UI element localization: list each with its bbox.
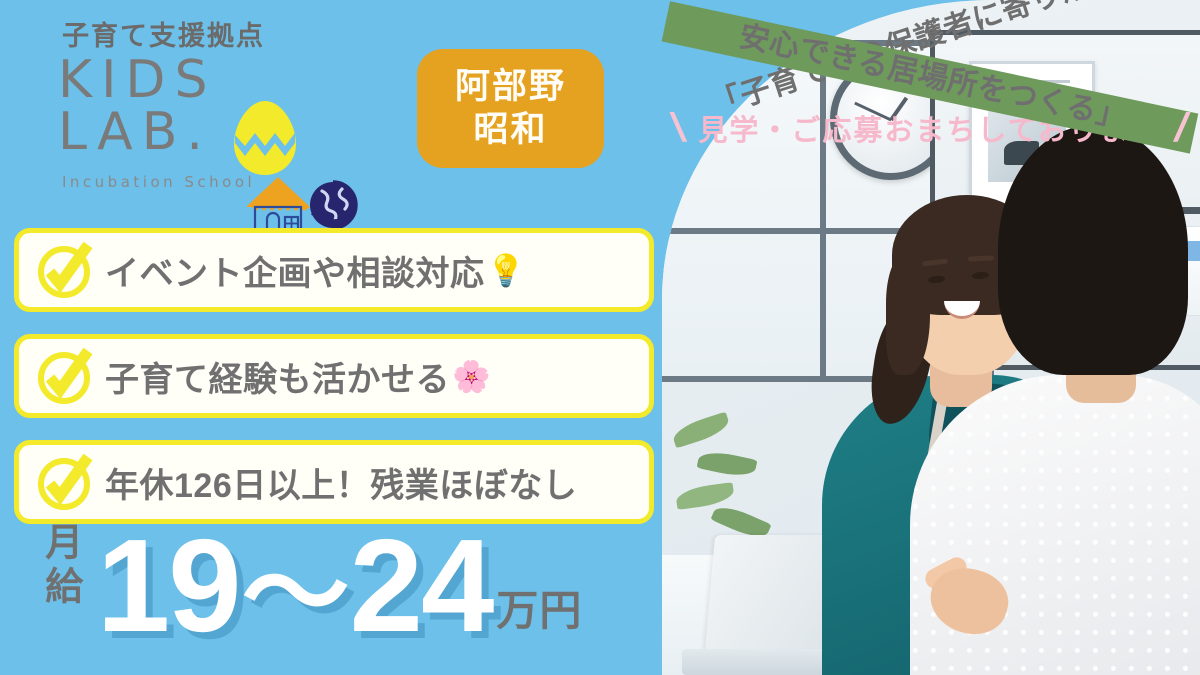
plant-icon (672, 400, 792, 550)
brand-name-line2: LAB. (58, 105, 212, 160)
brand-subtitle: Incubation School (62, 173, 255, 191)
salary-tilde: 〜 (242, 533, 348, 654)
area-badge-line2: 昭和 (473, 109, 547, 152)
egg-icon (230, 99, 300, 177)
salary-unit: 万円 (496, 577, 582, 638)
tagline-block: 「子育て中の保護者に寄り添い、 安心できる居場所をつくる」 \ 見学・ご応募おま… (660, 16, 1200, 149)
salary-max: 24 (350, 512, 493, 659)
job-ad-banner: 子育て支援拠点 KIDS LAB. Incubation School (0, 0, 1200, 675)
area-badge-line1: 阿部野 (455, 66, 566, 109)
check-icon (33, 239, 95, 301)
cherry-blossom-icon: 🌸 (452, 358, 491, 395)
area-badge[interactable]: 阿部野 昭和 (417, 49, 604, 168)
feature-item: 子育て経験も活かせる🌸 (14, 334, 654, 418)
salary-range: 19〜24 (97, 520, 493, 652)
salary-min: 19 (97, 512, 240, 659)
feature-label: イベント企画や相談対応💡 (105, 246, 526, 295)
check-icon (33, 451, 95, 513)
feature-item: イベント企画や相談対応💡 (14, 228, 654, 312)
visitor-person (910, 75, 1200, 675)
lightbulb-icon: 💡 (487, 252, 526, 289)
feature-label: 年休126日以上！残業ほぼなし (105, 458, 579, 507)
feature-list: イベント企画や相談対応💡 子育て経験も活かせる🌸 (14, 228, 654, 546)
brand-tagline-small: 子育て支援拠点 (62, 14, 346, 53)
check-icon (33, 345, 95, 407)
salary-block: 月給 19〜24 万円 (40, 520, 582, 652)
brand-logo: 子育て支援拠点 KIDS LAB. Incubation School (46, 14, 346, 185)
feature-label: 子育て経験も活かせる🌸 (105, 352, 491, 401)
salary-label: 月給 (40, 522, 79, 642)
brand-name-line1: KIDS (58, 53, 216, 108)
